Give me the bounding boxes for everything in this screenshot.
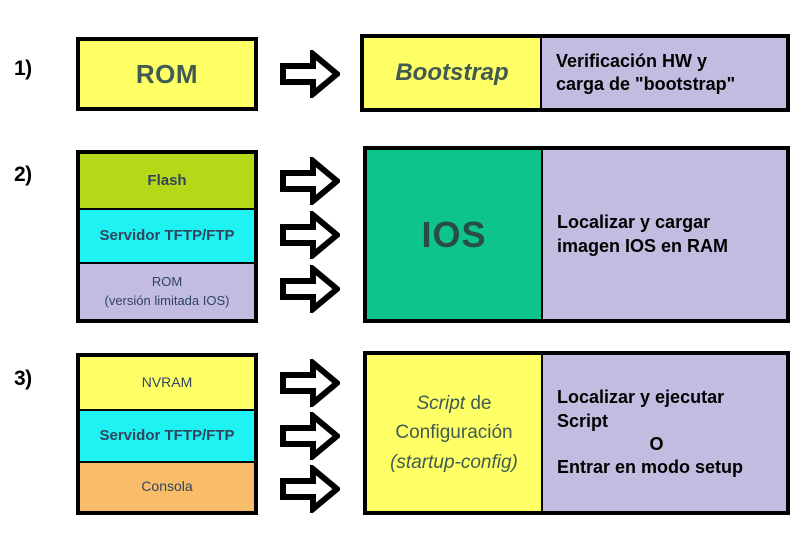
- right-arrow-outline-icon: [280, 412, 340, 460]
- result-description-step3: Localizar y ejecutar Script O Entrar en …: [543, 355, 786, 511]
- source-cell-rom: ROM: [80, 41, 254, 107]
- result-name-line: Script de: [390, 389, 518, 418]
- script-de: de: [465, 393, 491, 414]
- desc-line-or: O: [649, 433, 693, 456]
- result-name-line: (startup-config): [390, 448, 518, 477]
- right-arrow-outline-icon: [280, 465, 340, 513]
- result-description-step2: Localizar y cargar imagen IOS en RAM: [543, 150, 786, 319]
- result-name-bootstrap: Bootstrap: [364, 38, 542, 108]
- result-name-line: Configuración: [390, 418, 518, 447]
- desc-line: Localizar y cargar: [557, 211, 728, 234]
- desc-line: Localizar y ejecutar: [557, 386, 724, 409]
- source-cell-nvram: NVRAM: [80, 357, 254, 409]
- result-box-step3[interactable]: Script de Configuración (startup-config)…: [363, 351, 790, 515]
- source-line: (versión limitada IOS): [105, 292, 230, 311]
- boot-process-diagram: 1) ROM Bootstrap Verificación HW y carga…: [0, 0, 812, 549]
- result-box-step2[interactable]: IOS Localizar y cargar imagen IOS en RAM: [363, 146, 790, 323]
- source-cell-flash: Flash: [80, 154, 254, 208]
- source-box-step3[interactable]: NVRAM Servidor TFTP/FTP Consola: [76, 353, 258, 515]
- source-line: ROM: [105, 273, 230, 292]
- source-cell-tftp-ftp-server: Servidor TFTP/FTP: [80, 409, 254, 461]
- script-keyword: Script: [417, 393, 466, 414]
- right-arrow-outline-icon: [280, 211, 340, 259]
- result-box-step1[interactable]: Bootstrap Verificación HW y carga de "bo…: [360, 34, 790, 112]
- source-cell-console: Consola: [80, 461, 254, 511]
- step-number-2: 2): [14, 163, 32, 187]
- source-box-step2[interactable]: Flash Servidor TFTP/FTP ROM (versión lim…: [76, 150, 258, 323]
- source-cell-tftp-ftp-server: Servidor TFTP/FTP: [80, 208, 254, 262]
- desc-line: Entrar en modo setup: [557, 456, 743, 479]
- source-box-step1[interactable]: ROM: [76, 37, 258, 111]
- right-arrow-outline-icon: [280, 265, 340, 313]
- startup-config-keyword: (startup-config): [390, 452, 518, 473]
- desc-line: imagen IOS en RAM: [557, 235, 728, 258]
- result-description-step1: Verificación HW y carga de "bootstrap": [542, 38, 786, 108]
- result-name-startup-config: Script de Configuración (startup-config): [367, 355, 543, 511]
- desc-line: carga de "bootstrap": [556, 73, 735, 96]
- result-name-ios: IOS: [367, 150, 543, 319]
- right-arrow-outline-icon: [280, 359, 340, 407]
- source-cell-rom-limited: ROM (versión limitada IOS): [80, 262, 254, 319]
- right-arrow-outline-icon: [280, 157, 340, 205]
- step-number-3: 3): [14, 367, 32, 391]
- desc-line: Verificación HW y: [556, 50, 735, 73]
- right-arrow-outline-icon: [280, 50, 340, 98]
- step-number-1: 1): [14, 57, 32, 81]
- desc-line: Script: [557, 410, 608, 433]
